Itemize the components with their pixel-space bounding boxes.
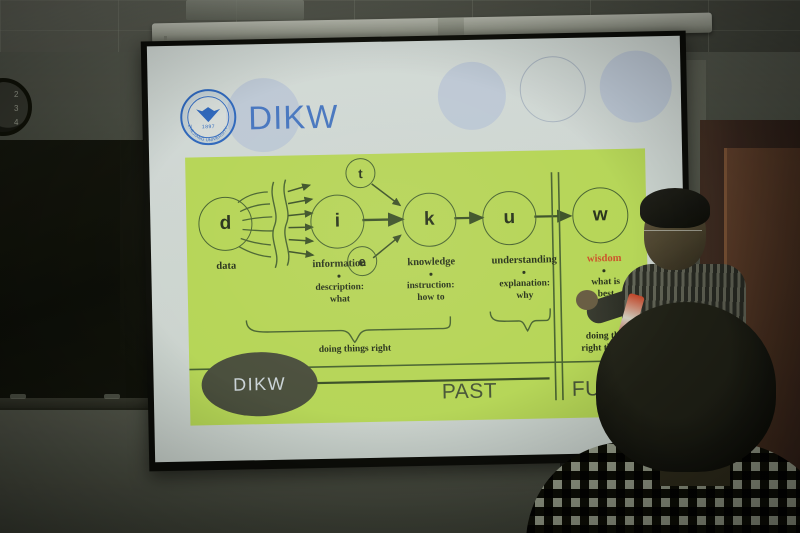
chalk-piece: [104, 394, 120, 399]
sublabel-instruction-2: how to: [378, 292, 484, 305]
label-information: information: [285, 257, 393, 271]
logo-bird-icon: [195, 105, 221, 126]
presenter-hair: [640, 188, 710, 228]
audience-head: [596, 302, 776, 472]
dikw-summary-label: DIKW: [233, 373, 286, 395]
decorative-circle-outline: [519, 56, 586, 123]
chalk-piece: [10, 394, 26, 399]
ceiling-lamp: [186, 0, 304, 20]
bullet-dot: [337, 275, 340, 278]
sublabel-explanation-1: explanation:: [470, 278, 580, 291]
zhejiang-university-logo: ZHEJIANG UNIVERSITY 1897: [180, 89, 237, 146]
label-data: data: [195, 260, 257, 273]
bullet-dot: [602, 269, 605, 272]
logo-year: 1897: [202, 124, 215, 130]
foreground-audience-member: [556, 302, 800, 533]
presenter-glasses: [644, 230, 702, 242]
clock-number: 3: [14, 104, 18, 113]
slide-title: DIKW: [248, 98, 339, 138]
sublabel-explanation-2: why: [470, 290, 580, 303]
timeline-past-label: PAST: [442, 379, 498, 404]
decorative-circle: [599, 50, 672, 123]
sublabel-instruction-1: instruction:: [378, 280, 484, 293]
label-understanding: understanding: [469, 254, 579, 268]
clock-number: 2: [14, 90, 18, 99]
clock-number: 4: [14, 118, 18, 127]
bullet-dot: [522, 271, 525, 274]
label-knowledge: knowledge: [385, 256, 477, 270]
classroom-scene: 2 3 4 ZHEJIANG UNIVERSITY: [0, 0, 800, 533]
decorative-circle: [437, 61, 506, 130]
bullet-dot: [429, 273, 432, 276]
